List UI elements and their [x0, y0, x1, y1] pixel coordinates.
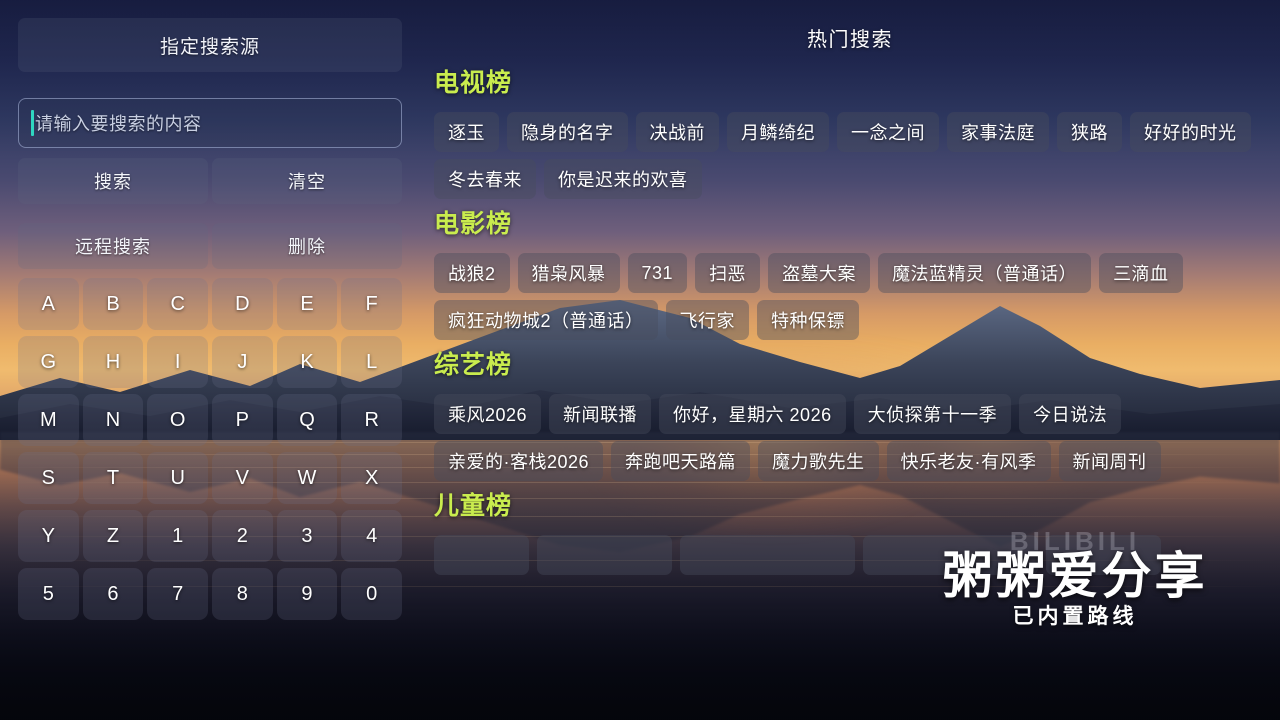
- text-caret: [31, 110, 34, 136]
- chip-label: 隐身的名字: [521, 119, 614, 145]
- key-B[interactable]: B: [83, 278, 144, 330]
- key-J[interactable]: J: [212, 336, 273, 388]
- chip-label: 决战前: [650, 119, 706, 145]
- hot-search-chip[interactable]: 亲爱的·客栈2026: [434, 441, 603, 481]
- tv-search-screen: 指定搜索源 请输入要搜索的内容 搜索 清空 远程搜索 删除 ABCDEFGHIJ…: [0, 0, 1280, 720]
- key-2[interactable]: 2: [212, 510, 273, 562]
- chip-label: 731: [642, 263, 674, 284]
- chip-label: 月鳞绮纪: [741, 119, 815, 145]
- key-label: L: [366, 351, 377, 374]
- chip-list: 战狼2猎枭风暴731扫恶盗墓大案魔法蓝精灵（普通话）三滴血疯狂动物城2（普通话）…: [434, 253, 1280, 340]
- chip-label: 战狼2: [448, 260, 496, 286]
- key-label: H: [106, 351, 120, 374]
- key-7[interactable]: 7: [147, 568, 208, 620]
- search-source-label: 指定搜索源: [160, 32, 260, 59]
- key-W[interactable]: W: [277, 452, 338, 504]
- hot-search-chip[interactable]: 隐身的名字: [507, 112, 628, 152]
- chip-label: 大侦探第十一季: [868, 401, 998, 427]
- hot-search-chip[interactable]: [434, 535, 529, 575]
- hot-search-chip[interactable]: 大侦探第十一季: [854, 394, 1012, 434]
- key-label: 3: [301, 525, 312, 548]
- hot-section: 电视榜逐玉隐身的名字决战前月鳞绮纪一念之间家事法庭狭路好好的时光冬去春来你是迟来…: [434, 68, 1280, 199]
- key-G[interactable]: G: [18, 336, 79, 388]
- key-label: 7: [172, 583, 183, 606]
- key-V[interactable]: V: [212, 452, 273, 504]
- key-label: E: [300, 293, 313, 316]
- chip-label: 盗墓大案: [782, 260, 856, 286]
- key-label: U: [170, 467, 184, 490]
- hot-search-chip[interactable]: 月鳞绮纪: [727, 112, 829, 152]
- chip-label: 新闻联播: [563, 401, 637, 427]
- action-button-row-secondary: 远程搜索 删除: [18, 223, 402, 269]
- key-E[interactable]: E: [277, 278, 338, 330]
- hot-section: 电影榜战狼2猎枭风暴731扫恶盗墓大案魔法蓝精灵（普通话）三滴血疯狂动物城2（普…: [434, 209, 1280, 340]
- chip-label: 今日说法: [1033, 401, 1107, 427]
- chip-label: 飞行家: [680, 307, 736, 333]
- key-0[interactable]: 0: [341, 568, 402, 620]
- section-title: 电影榜: [434, 209, 1280, 239]
- hot-search-chip[interactable]: 决战前: [636, 112, 720, 152]
- chip-list: 乘风2026新闻联播你好，星期六 2026大侦探第十一季今日说法亲爱的·客栈20…: [434, 394, 1280, 481]
- chip-list: 逐玉隐身的名字决战前月鳞绮纪一念之间家事法庭狭路好好的时光冬去春来你是迟来的欢喜: [434, 112, 1280, 199]
- chip-label: 奔跑吧天路篇: [625, 448, 736, 474]
- chip-label: 乘风2026: [448, 401, 527, 427]
- hot-search-panel: 热门搜索 电视榜逐玉隐身的名字决战前月鳞绮纪一念之间家事法庭狭路好好的时光冬去春…: [420, 0, 1280, 720]
- key-O[interactable]: O: [147, 394, 208, 446]
- key-R[interactable]: R: [341, 394, 402, 446]
- chip-label: 魔力歌先生: [772, 448, 865, 474]
- action-button-row-primary: 搜索 清空: [18, 158, 402, 204]
- hot-search-chip[interactable]: 飞行家: [666, 300, 750, 340]
- chip-list: [434, 535, 1280, 575]
- hot-search-chip[interactable]: 魔力歌先生: [758, 441, 879, 481]
- chip-label: 狭路: [1071, 119, 1108, 145]
- hot-search-chip[interactable]: 战狼2: [434, 253, 510, 293]
- hot-search-chip[interactable]: 特种保镖: [757, 300, 859, 340]
- key-6[interactable]: 6: [83, 568, 144, 620]
- key-label: N: [106, 409, 120, 432]
- key-I[interactable]: I: [147, 336, 208, 388]
- key-M[interactable]: M: [18, 394, 79, 446]
- key-Y[interactable]: Y: [18, 510, 79, 562]
- chip-label: 你是迟来的欢喜: [558, 166, 688, 192]
- clear-button-label: 清空: [288, 168, 326, 194]
- hot-search-chip[interactable]: 家事法庭: [947, 112, 1049, 152]
- onscreen-keyboard[interactable]: ABCDEFGHIJKLMNOPQRSTUVWXYZ1234567890: [18, 278, 402, 620]
- key-label: 8: [237, 583, 248, 606]
- hot-search-chip[interactable]: 新闻联播: [549, 394, 651, 434]
- key-label: M: [40, 409, 57, 432]
- key-C[interactable]: C: [147, 278, 208, 330]
- hot-search-chip[interactable]: [1046, 535, 1161, 575]
- key-D[interactable]: D: [212, 278, 273, 330]
- hot-search-chip[interactable]: [680, 535, 855, 575]
- key-5[interactable]: 5: [18, 568, 79, 620]
- hot-search-title: 热门搜索: [420, 23, 1280, 52]
- hot-search-chip[interactable]: 疯狂动物城2（普通话）: [434, 300, 658, 340]
- key-Z[interactable]: Z: [83, 510, 144, 562]
- key-label: B: [106, 293, 119, 316]
- chip-label: 猎枭风暴: [532, 260, 606, 286]
- search-input-placeholder: 请输入要搜索的内容: [35, 110, 202, 136]
- hot-search-chip[interactable]: 你是迟来的欢喜: [544, 159, 702, 199]
- key-label: 6: [107, 583, 118, 606]
- key-label: X: [365, 467, 378, 490]
- hot-search-chip[interactable]: 乘风2026: [434, 394, 541, 434]
- chip-label: 家事法庭: [961, 119, 1035, 145]
- key-label: C: [170, 293, 184, 316]
- chip-label: 逐玉: [448, 119, 485, 145]
- hot-search-chip[interactable]: 冬去春来: [434, 159, 536, 199]
- key-label: S: [42, 467, 55, 490]
- key-X[interactable]: X: [341, 452, 402, 504]
- hot-search-chip[interactable]: [537, 535, 672, 575]
- key-label: D: [235, 293, 249, 316]
- hot-search-chip[interactable]: 731: [628, 253, 688, 293]
- key-T[interactable]: T: [83, 452, 144, 504]
- hot-section: 综艺榜乘风2026新闻联播你好，星期六 2026大侦探第十一季今日说法亲爱的·客…: [434, 350, 1280, 481]
- key-L[interactable]: L: [341, 336, 402, 388]
- hot-search-chip[interactable]: 三滴血: [1099, 253, 1183, 293]
- clear-button[interactable]: 清空: [212, 158, 402, 204]
- hot-search-chip[interactable]: 猎枭风暴: [518, 253, 620, 293]
- remote-search-button[interactable]: 远程搜索: [18, 223, 208, 269]
- chip-label: 新闻周刊: [1073, 448, 1147, 474]
- hot-search-chip[interactable]: 盗墓大案: [768, 253, 870, 293]
- chip-label: 疯狂动物城2（普通话）: [448, 307, 644, 333]
- chip-label: 冬去春来: [448, 166, 522, 192]
- key-9[interactable]: 9: [277, 568, 338, 620]
- key-label: 5: [43, 583, 54, 606]
- hot-search-chip[interactable]: 魔法蓝精灵（普通话）: [878, 253, 1091, 293]
- chip-label: 你好，星期六 2026: [673, 401, 832, 427]
- key-label: J: [237, 351, 247, 374]
- chip-label: 特种保镖: [771, 307, 845, 333]
- key-label: R: [364, 409, 378, 432]
- key-label: I: [175, 351, 181, 374]
- chip-label: 魔法蓝精灵（普通话）: [892, 260, 1077, 286]
- hot-search-chip[interactable]: 逐玉: [434, 112, 499, 152]
- hot-search-chip[interactable]: 奔跑吧天路篇: [611, 441, 750, 481]
- key-label: Z: [107, 525, 119, 548]
- section-title: 儿童榜: [434, 491, 1280, 521]
- hot-search-chip[interactable]: 快乐老友·有风季: [887, 441, 1051, 481]
- chip-label: 三滴血: [1113, 260, 1169, 286]
- key-Q[interactable]: Q: [277, 394, 338, 446]
- key-label: A: [42, 293, 55, 316]
- key-U[interactable]: U: [147, 452, 208, 504]
- key-8[interactable]: 8: [212, 568, 273, 620]
- delete-button-label: 删除: [288, 233, 326, 259]
- section-title: 综艺榜: [434, 350, 1280, 380]
- key-S[interactable]: S: [18, 452, 79, 504]
- key-H[interactable]: H: [83, 336, 144, 388]
- search-panel: 指定搜索源 请输入要搜索的内容 搜索 清空 远程搜索 删除 ABCDEFGHIJ…: [18, 18, 402, 618]
- key-label: G: [41, 351, 57, 374]
- hot-search-chip[interactable]: [863, 535, 1038, 575]
- key-label: F: [366, 293, 378, 316]
- hot-search-sections: 电视榜逐玉隐身的名字决战前月鳞绮纪一念之间家事法庭狭路好好的时光冬去春来你是迟来…: [434, 68, 1280, 585]
- key-label: 1: [172, 525, 183, 548]
- remote-search-button-label: 远程搜索: [75, 233, 151, 259]
- search-source-button[interactable]: 指定搜索源: [18, 18, 402, 72]
- key-3[interactable]: 3: [277, 510, 338, 562]
- hot-search-chip[interactable]: 今日说法: [1019, 394, 1121, 434]
- chip-label: 一念之间: [851, 119, 925, 145]
- hot-search-chip[interactable]: 一念之间: [837, 112, 939, 152]
- hot-search-chip[interactable]: 好好的时光: [1130, 112, 1251, 152]
- key-label: 2: [237, 525, 248, 548]
- key-label: K: [300, 351, 313, 374]
- key-label: T: [107, 467, 119, 490]
- search-input[interactable]: 请输入要搜索的内容: [18, 98, 402, 148]
- key-N[interactable]: N: [83, 394, 144, 446]
- chip-label: 好好的时光: [1144, 119, 1237, 145]
- key-1[interactable]: 1: [147, 510, 208, 562]
- key-label: W: [298, 467, 317, 490]
- key-P[interactable]: P: [212, 394, 273, 446]
- key-label: 9: [301, 583, 312, 606]
- key-label: Y: [42, 525, 55, 548]
- chip-label: 亲爱的·客栈2026: [448, 448, 589, 474]
- delete-button[interactable]: 删除: [212, 223, 402, 269]
- key-4[interactable]: 4: [341, 510, 402, 562]
- key-F[interactable]: F: [341, 278, 402, 330]
- hot-search-chip[interactable]: 你好，星期六 2026: [659, 394, 846, 434]
- key-A[interactable]: A: [18, 278, 79, 330]
- chip-label: 快乐老友·有风季: [901, 448, 1037, 474]
- key-label: 0: [366, 583, 377, 606]
- key-K[interactable]: K: [277, 336, 338, 388]
- hot-section: 儿童榜: [434, 491, 1280, 575]
- hot-search-chip[interactable]: 狭路: [1057, 112, 1122, 152]
- key-label: 4: [366, 525, 377, 548]
- key-label: P: [236, 409, 249, 432]
- search-button-label: 搜索: [94, 168, 132, 194]
- key-label: V: [236, 467, 249, 490]
- hot-search-chip[interactable]: 新闻周刊: [1059, 441, 1161, 481]
- search-button[interactable]: 搜索: [18, 158, 208, 204]
- key-label: Q: [299, 409, 315, 432]
- hot-search-chip[interactable]: 扫恶: [695, 253, 760, 293]
- section-title: 电视榜: [434, 68, 1280, 98]
- chip-label: 扫恶: [709, 260, 746, 286]
- key-label: O: [170, 409, 186, 432]
